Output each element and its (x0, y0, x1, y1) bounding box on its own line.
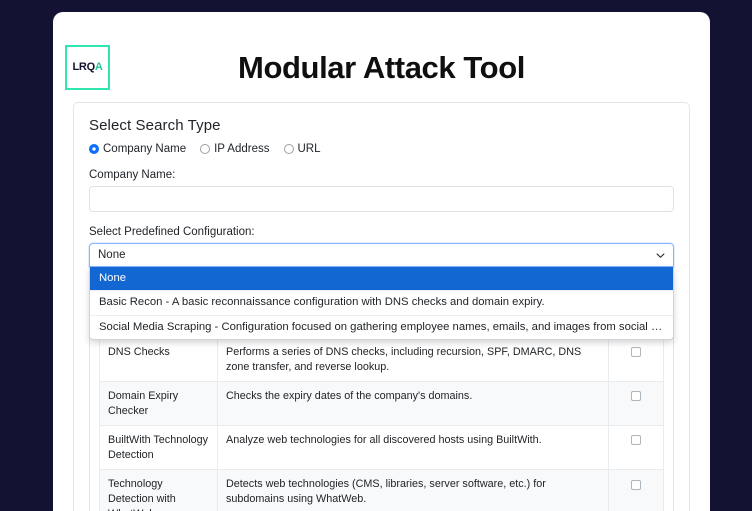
cell-module-name: DNS Checks (100, 338, 218, 382)
chevron-down-icon[interactable] (656, 251, 665, 260)
radio-label: IP Address (214, 143, 269, 155)
company-name-input[interactable] (89, 186, 674, 212)
search-type-radio-group: Company Name IP Address URL (89, 143, 674, 155)
dropdown-option-none[interactable]: None (90, 267, 673, 291)
radio-option-company-name[interactable]: Company Name (89, 143, 186, 155)
cell-module-name: Domain Expiry Checker (100, 382, 218, 426)
table-row: BuiltWith Technology Detection Analyze w… (100, 426, 664, 470)
radio-dot-icon[interactable] (284, 144, 294, 154)
cell-select[interactable] (609, 426, 664, 470)
configuration-dropdown-menu[interactable]: None Basic Recon - A basic reconnaissanc… (89, 267, 674, 340)
modules-table: Module Name Description Select DNS Check… (99, 313, 664, 511)
module-checkbox[interactable] (631, 347, 641, 357)
page-title: Modular Attack Tool (53, 50, 710, 86)
modules-table-body: DNS Checks Performs a series of DNS chec… (100, 338, 664, 511)
radio-dot-icon[interactable] (200, 144, 210, 154)
radio-label: URL (298, 143, 321, 155)
radio-label: Company Name (103, 143, 186, 155)
dropdown-option-social-media-scraping[interactable]: Social Media Scraping - Configuration fo… (90, 316, 673, 339)
configuration-select-wrap: None None Basic Recon - A basic reconnai… (89, 243, 674, 267)
search-type-heading: Select Search Type (89, 117, 674, 134)
cell-description: Analyze web technologies for all discove… (218, 426, 609, 470)
dropdown-option-basic-recon[interactable]: Basic Recon - A basic reconnaissance con… (90, 291, 673, 315)
table-row: Technology Detection with WhatWeb Detect… (100, 470, 664, 511)
cell-module-name: Technology Detection with WhatWeb (100, 470, 218, 511)
cell-description: Detects web technologies (CMS, libraries… (218, 470, 609, 511)
table-row: DNS Checks Performs a series of DNS chec… (100, 338, 664, 382)
cell-select[interactable] (609, 382, 664, 426)
configuration-label: Select Predefined Configuration: (89, 226, 674, 238)
search-form-panel: Select Search Type Company Name IP Addre… (73, 102, 690, 511)
cell-description: Performs a series of DNS checks, includi… (218, 338, 609, 382)
radio-dot-icon[interactable] (89, 144, 99, 154)
radio-option-url[interactable]: URL (284, 143, 321, 155)
radio-option-ip-address[interactable]: IP Address (200, 143, 269, 155)
configuration-select[interactable]: None (89, 243, 674, 267)
page-card: LRQA Modular Attack Tool Select Search T… (53, 12, 710, 511)
module-checkbox[interactable] (631, 435, 641, 445)
cell-select[interactable] (609, 338, 664, 382)
module-checkbox[interactable] (631, 391, 641, 401)
cell-description: Checks the expiry dates of the company's… (218, 382, 609, 426)
cell-module-name: BuiltWith Technology Detection (100, 426, 218, 470)
cell-select[interactable] (609, 470, 664, 511)
table-row: Domain Expiry Checker Checks the expiry … (100, 382, 664, 426)
configuration-selected-value: None (98, 249, 656, 261)
page-header: LRQA Modular Attack Tool (53, 12, 710, 97)
module-checkbox[interactable] (631, 480, 641, 490)
company-name-label: Company Name: (89, 169, 674, 181)
